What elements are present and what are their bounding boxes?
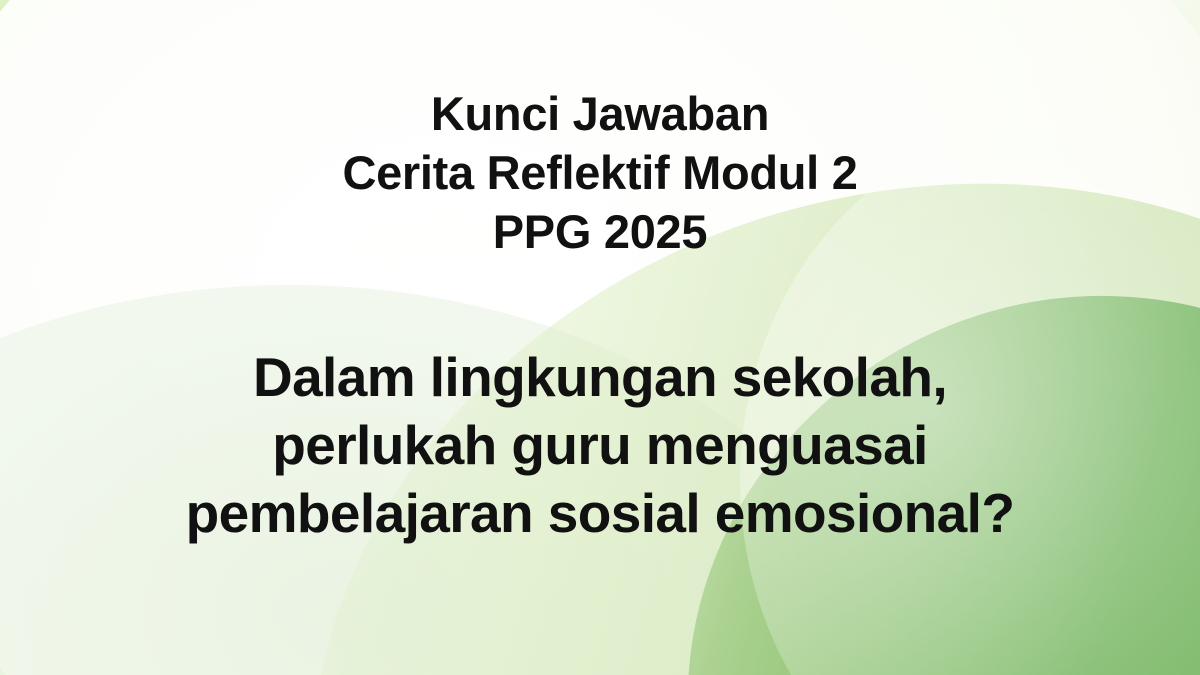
title-block: Kunci Jawaban Cerita Reflektif Modul 2 P… [342, 84, 857, 261]
question-line-1: Dalam lingkungan sekolah, [253, 343, 947, 411]
slide-canvas: Kunci Jawaban Cerita Reflektif Modul 2 P… [0, 0, 1200, 675]
title-line-2: Cerita Reflektif Modul 2 [342, 143, 857, 202]
title-line-1: Kunci Jawaban [431, 84, 769, 143]
title-line-3: PPG 2025 [493, 202, 707, 261]
slide-content: Kunci Jawaban Cerita Reflektif Modul 2 P… [0, 0, 1200, 675]
question-line-3: pembelajaran sosial emosional? [186, 479, 1015, 547]
question-line-2: perlukah guru menguasai [272, 411, 928, 479]
question-block: Dalam lingkungan sekolah, perlukah guru … [186, 343, 1015, 547]
